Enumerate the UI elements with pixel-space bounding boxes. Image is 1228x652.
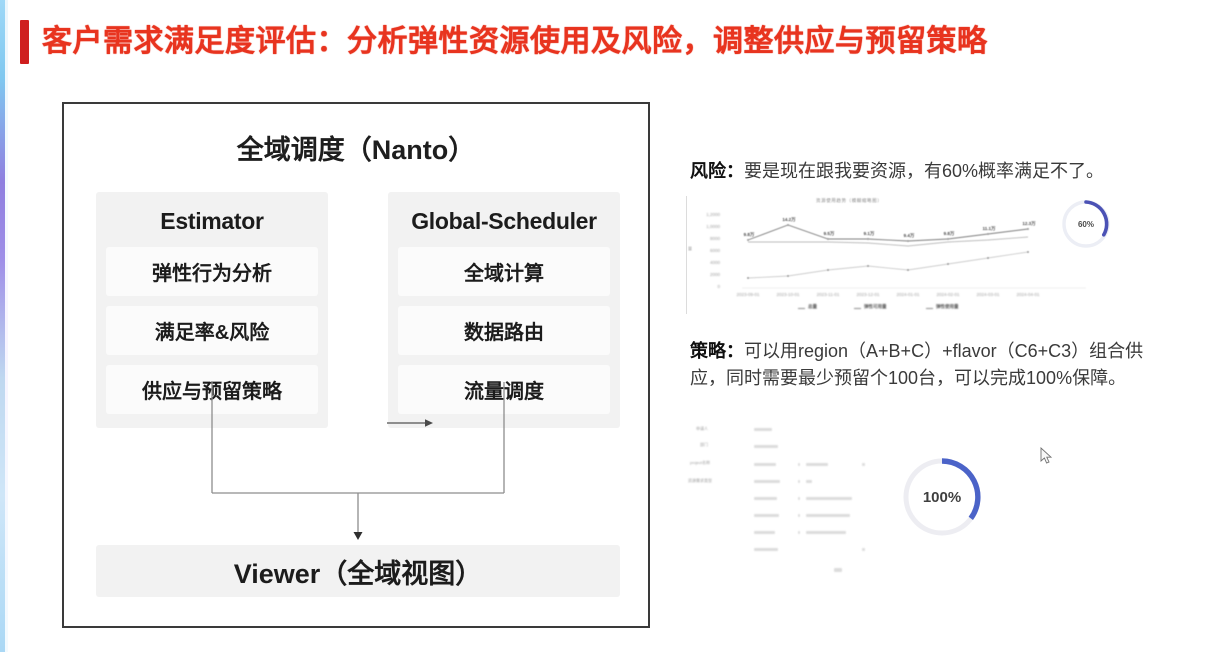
form-value [754, 531, 775, 534]
form-label: 部门 [700, 442, 708, 448]
form-sep [798, 497, 800, 500]
form-value [754, 548, 778, 551]
legend-marker [798, 308, 805, 309]
chart-legend-entry: 总量 [808, 304, 817, 310]
form-value [754, 497, 777, 500]
form-value2 [806, 531, 846, 534]
form-sep [798, 514, 800, 517]
legend-marker [926, 308, 933, 309]
guarantee-gauge-value: 100% [923, 489, 961, 506]
chart-xtick: 2023-11-01 [806, 292, 850, 297]
risk-note: 风险：要是现在跟我要资源，有60%概率满足不了。 [690, 158, 1104, 185]
form-value [754, 480, 780, 483]
global-scheduler-title: Global-Scheduler [398, 208, 610, 235]
form-value [754, 445, 778, 448]
risk-label: 风险： [690, 161, 744, 181]
page-title: 客户需求满足度评估：分析弹性资源使用及风险，调整供应与预留策略 [42, 20, 988, 64]
chart-data-label: 12.3万 [1014, 221, 1044, 227]
usage-trend-chart-thumbnail[interactable]: 资源使用趋势（模糊缩略图） 量 1,2000 1,0000 8000 6000 … [686, 192, 1106, 314]
guarantee-gauge: 100% [897, 452, 987, 542]
form-label: 申请人 [696, 426, 708, 432]
form-value [754, 463, 776, 466]
estimator-item-3[interactable]: 供应与预留策略 [106, 365, 318, 414]
chart-data-label: 11.1万 [974, 226, 1004, 232]
reservation-form-thumbnail[interactable]: 申请人 部门 project名称 资源需求类型 [686, 420, 886, 580]
viewer-output-box[interactable]: Viewer（全域视图） [96, 545, 620, 597]
title-accent-bar [20, 20, 29, 64]
risk-gauge: 60% [1058, 196, 1114, 252]
architecture-diagram: 全域调度（Nanto） Estimator 弹性行为分析 满足率&风险 供应与预… [62, 102, 650, 628]
slide-canvas: 客户需求满足度评估：分析弹性资源使用及风险，调整供应与预留策略 全域调度（Nan… [0, 0, 1228, 652]
scheduler-item-1[interactable]: 全域计算 [398, 247, 610, 296]
form-value2 [806, 514, 850, 517]
chart-xtick: 2023-12-01 [846, 292, 890, 297]
policy-note: 策略：可以用region（A+B+C）+flavor（C6+C3）组合供应，同时… [690, 338, 1150, 392]
form-end [862, 548, 865, 551]
chart-data-label: 9.4万 [894, 233, 924, 239]
chart-xtick: 2024-03-01 [966, 292, 1010, 297]
diagram-title: 全域调度（Nanto） [64, 128, 648, 167]
estimator-column: Estimator 弹性行为分析 满足率&风险 供应与预留策略 [96, 192, 328, 428]
chart-data-label: 9.1万 [854, 231, 884, 237]
policy-text: 可以用region（A+B+C）+flavor（C6+C3）组合供应，同时需要最… [690, 341, 1143, 388]
form-value2 [806, 463, 828, 466]
form-sep [798, 480, 800, 483]
form-end [862, 463, 865, 466]
chart-xtick: 2024-02-01 [926, 292, 970, 297]
estimator-title: Estimator [106, 208, 318, 235]
scheduler-item-3[interactable]: 流量调度 [398, 365, 610, 414]
mouse-pointer-icon [1040, 447, 1054, 465]
scheduler-item-2[interactable]: 数据路由 [398, 306, 610, 355]
form-value2 [806, 497, 852, 500]
form-value2 [806, 480, 812, 483]
chart-xtick: 2023-09-01 [726, 292, 770, 297]
chart-xtick: 2024-04-01 [1006, 292, 1050, 297]
form-submit[interactable] [834, 568, 842, 572]
chart-legend-entry: 弹性可用量 [864, 304, 887, 310]
slide-title-row: 客户需求满足度评估：分析弹性资源使用及风险，调整供应与预留策略 [20, 20, 988, 64]
chart-xtick: 2024-01-01 [886, 292, 930, 297]
form-value [754, 514, 779, 517]
diagram-columns: Estimator 弹性行为分析 满足率&风险 供应与预留策略 Global-S… [96, 192, 620, 428]
chart-legend-entry: 弹性使用量 [936, 304, 959, 310]
form-sep [798, 463, 800, 466]
estimator-item-2[interactable]: 满足率&风险 [106, 306, 318, 355]
global-scheduler-column: Global-Scheduler 全域计算 数据路由 流量调度 [388, 192, 620, 428]
left-edge-inner-stripe [5, 0, 8, 652]
legend-marker [854, 308, 861, 309]
policy-label: 策略： [690, 341, 744, 361]
arrow-right-icon [387, 417, 433, 429]
risk-text: 要是现在跟我要资源，有60%概率满足不了。 [744, 161, 1104, 181]
form-value [754, 428, 772, 431]
chart-data-label: 9.8万 [934, 231, 964, 237]
estimator-item-1[interactable]: 弹性行为分析 [106, 247, 318, 296]
risk-gauge-value: 60% [1078, 220, 1094, 229]
right-panel: 风险：要是现在跟我要资源，有60%概率满足不了。 资源使用趋势（模糊缩略图） 量… [686, 120, 1222, 620]
form-sep [798, 531, 800, 534]
chart-xtick: 2023-10-01 [766, 292, 810, 297]
chart-data-label: 9.8万 [734, 232, 764, 238]
form-label: project名称 [690, 460, 710, 466]
chart-data-label: 9.5万 [814, 231, 844, 237]
form-label: 资源需求类型 [688, 478, 712, 484]
chart-data-label: 14.2万 [774, 217, 804, 223]
